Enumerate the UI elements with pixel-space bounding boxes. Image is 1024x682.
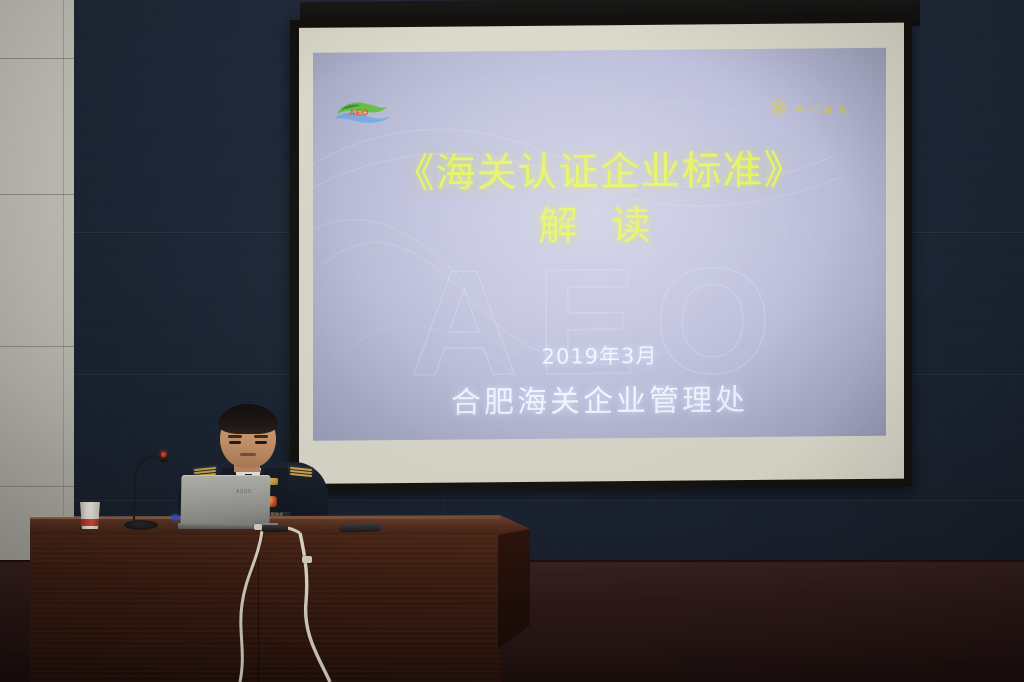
presentation-clicker xyxy=(339,524,381,533)
aeo-logo-icon: AEO xyxy=(331,97,393,128)
laptop xyxy=(180,475,270,525)
podium-desk xyxy=(30,515,530,682)
projection-screen-surface: AEO xyxy=(299,23,904,484)
wall-panel-left xyxy=(0,0,76,560)
slide-title-line-1: 《海关认证企业标准》 xyxy=(395,148,805,198)
svg-text:关: 关 xyxy=(838,104,847,116)
cable-connector-dark xyxy=(262,525,288,532)
slide-title-line-2: 解 读 xyxy=(313,197,886,256)
eye-right xyxy=(255,441,267,444)
desk-front-panel xyxy=(30,535,501,682)
mouth xyxy=(240,453,256,456)
hair xyxy=(218,404,278,434)
cable-connector-light xyxy=(302,556,312,563)
eye-left xyxy=(229,441,241,444)
projected-slide: AEO xyxy=(313,48,886,441)
cable-plug xyxy=(254,524,262,530)
china-customs-logo-icon: 中 国 海 关 xyxy=(768,96,864,123)
desk-side-panel xyxy=(498,529,530,649)
laptop-brand-label: ASUS xyxy=(236,489,252,495)
slide-subtitle: 2019年3月 合肥海关企业管理处 xyxy=(313,338,886,423)
microphone-led-icon xyxy=(161,452,166,457)
svg-text:海: 海 xyxy=(823,104,832,116)
paper-cup-band xyxy=(79,519,101,526)
power-led-icon xyxy=(172,515,179,520)
svg-text:中: 中 xyxy=(794,104,805,117)
slide-date: 2019年3月 xyxy=(313,338,886,373)
svg-text:AEO: AEO xyxy=(349,107,369,117)
slide-organization: 合肥海关企业管理处 xyxy=(313,374,886,423)
slide-title: 《海关认证企业标准》 解 读 xyxy=(313,144,886,256)
svg-text:国: 国 xyxy=(808,105,820,116)
projection-screen-frame: AEO xyxy=(290,15,912,492)
photo-scene: AEO xyxy=(0,0,1024,682)
microphone-base xyxy=(124,520,158,530)
microphone-gooseneck xyxy=(133,454,167,525)
